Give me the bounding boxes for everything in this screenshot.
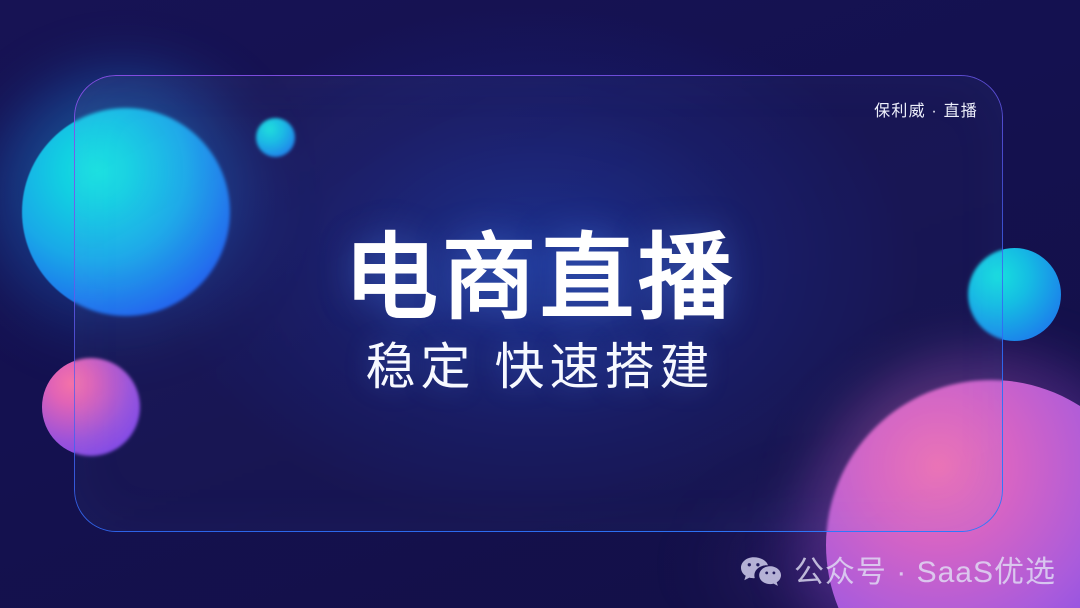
poster-canvas: 保利威 · 直播 电商直播 稳定 快速搭建 公众号 · SaaS优选 (0, 0, 1080, 608)
glass-panel-frame (74, 75, 1003, 532)
brand-label: 保利威 · 直播 (874, 104, 978, 120)
watermark-label: 公众号 · SaaS优选 (794, 558, 1056, 588)
wechat-icon (740, 556, 782, 590)
watermark: 公众号 · SaaS优选 (740, 556, 1056, 590)
